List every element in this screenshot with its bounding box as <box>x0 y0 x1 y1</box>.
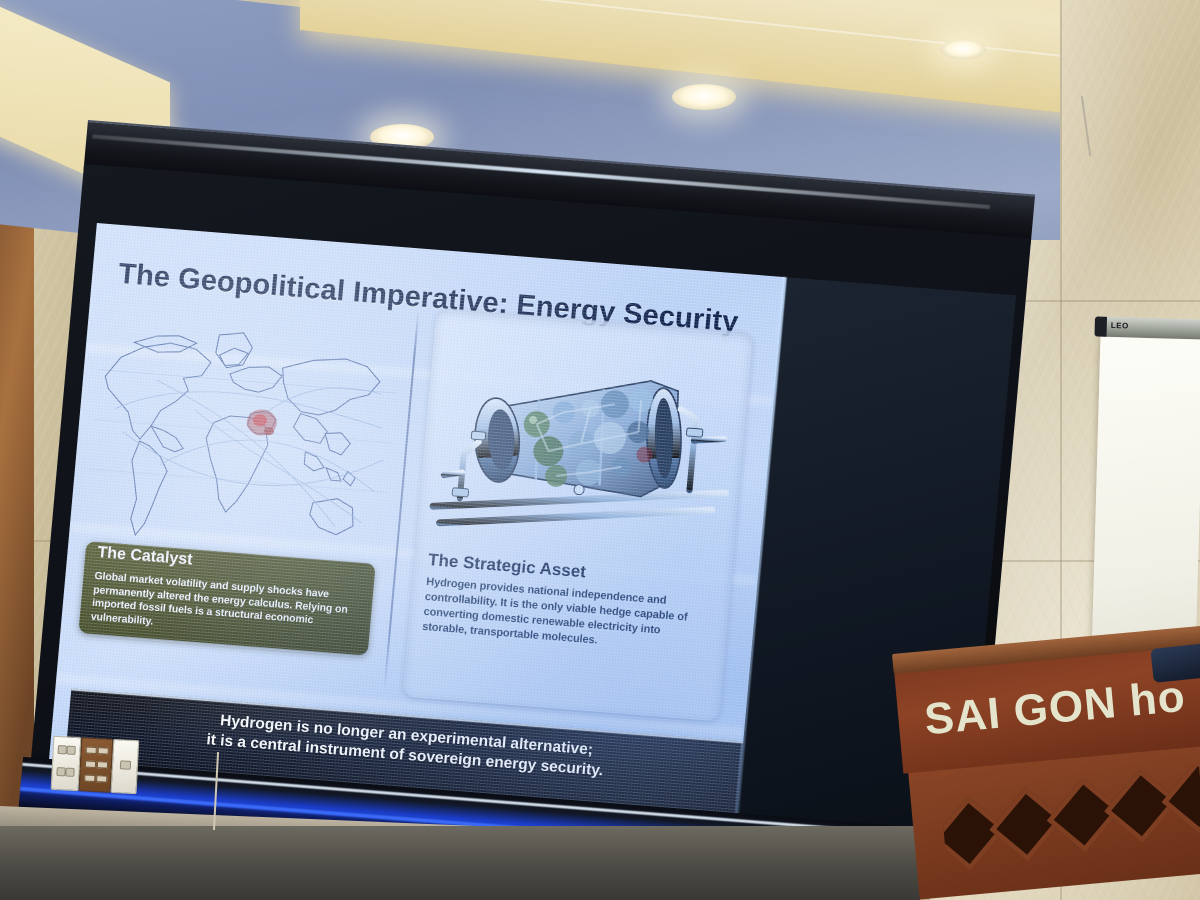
power-outlet-plate[interactable] <box>51 736 82 791</box>
catalyst-body: Global market volatility and supply shoc… <box>90 570 362 645</box>
hydrogen-tank-graphic <box>421 320 747 573</box>
podium-lattice-panel <box>940 766 1200 899</box>
leo-brand-label: LEO <box>1111 321 1129 330</box>
floor <box>0 826 920 900</box>
switch-plate-wood[interactable] <box>79 737 114 793</box>
wall-outlet-group[interactable] <box>51 736 140 792</box>
podium-venue-name: SAI GON ho <box>922 672 1187 746</box>
conference-room-photo: The Geopolitical Imperative: Energy Secu… <box>0 0 1200 900</box>
podium-device <box>1150 643 1200 683</box>
projected-slide[interactable]: The Geopolitical Imperative: Energy Secu… <box>46 223 784 843</box>
ceiling-downlight <box>940 40 986 59</box>
projection-screen: The Geopolitical Imperative: Energy Secu… <box>26 120 1035 892</box>
world-map-graphic <box>83 310 403 563</box>
ceiling-downlight <box>672 84 736 110</box>
podium: SAI GON ho <box>900 640 1200 900</box>
flipchart-rail: LEO <box>1094 316 1200 339</box>
data-port-plate[interactable] <box>111 739 140 794</box>
flipchart-paper <box>1091 335 1200 678</box>
flipchart: LEO <box>1089 317 1200 680</box>
screen-surface: The Geopolitical Imperative: Energy Secu… <box>31 164 1031 836</box>
